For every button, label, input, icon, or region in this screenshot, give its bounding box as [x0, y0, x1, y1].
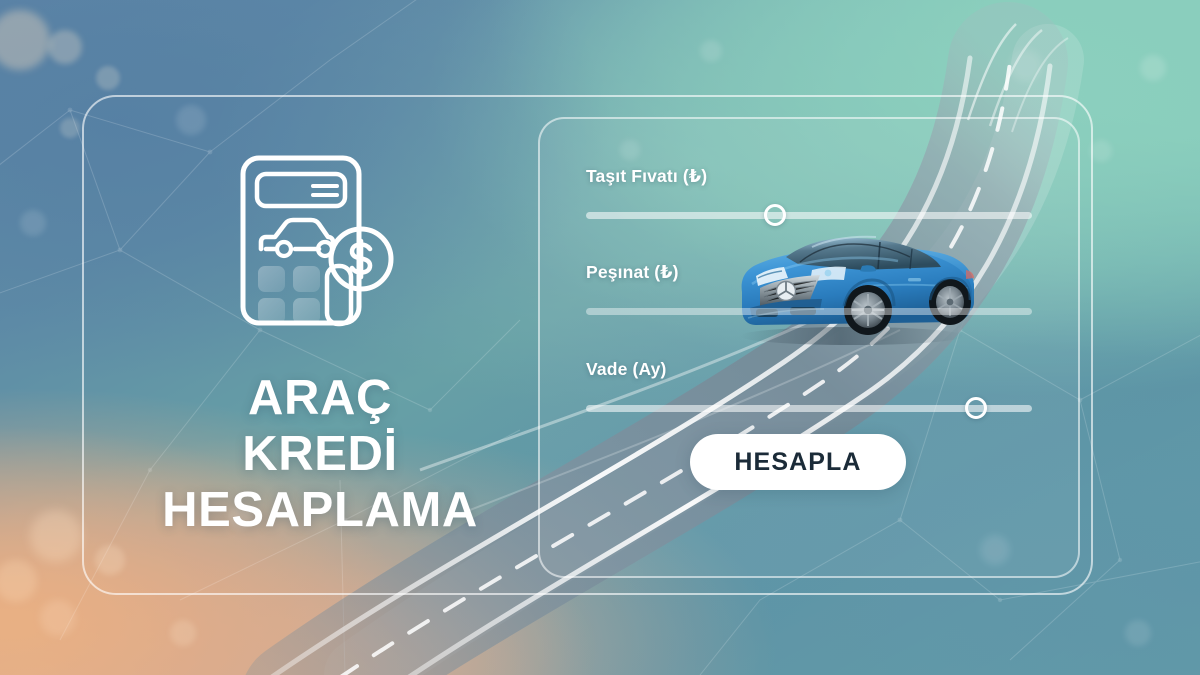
slider-handle[interactable]	[965, 397, 987, 419]
page-title: ARAÇ KREDİ HESAPLAMA	[162, 371, 478, 539]
down-payment-label: Peşınat (₺)	[586, 262, 1032, 283]
headline-line-1: ARAÇ	[162, 371, 478, 427]
loan-form: Taşıt Fıvatı (₺) Peşınat (₺) Vade (Ay)	[586, 166, 1032, 419]
field-vehicle-price: Taşıt Fıvatı (₺)	[586, 166, 1032, 226]
down-payment-slider[interactable]	[586, 300, 1032, 322]
vehicle-price-slider[interactable]	[586, 204, 1032, 226]
slider-handle[interactable]	[764, 204, 786, 226]
banner-stage: ARAÇ KREDİ HESAPLAMA Taşıt Fıvatı (₺) Pe…	[0, 0, 1200, 675]
slider-track[interactable]	[586, 212, 1032, 219]
calculate-button[interactable]: HESAPLA	[690, 434, 906, 490]
headline-line-2: KREDİ	[162, 427, 478, 483]
term-months-label: Vade (Ay)	[586, 359, 1032, 380]
field-down-payment: Peşınat (₺)	[586, 262, 1032, 322]
slider-track[interactable]	[586, 308, 1032, 315]
vehicle-price-label: Taşıt Fıvatı (₺)	[586, 166, 1032, 187]
field-term-months: Vade (Ay)	[586, 359, 1032, 419]
term-months-slider[interactable]	[586, 397, 1032, 419]
headline-line-3: HESAPLAMA	[162, 483, 478, 539]
left-panel: ARAÇ KREDİ HESAPLAMA	[120, 140, 520, 540]
calculator-car-icon	[235, 148, 405, 343]
